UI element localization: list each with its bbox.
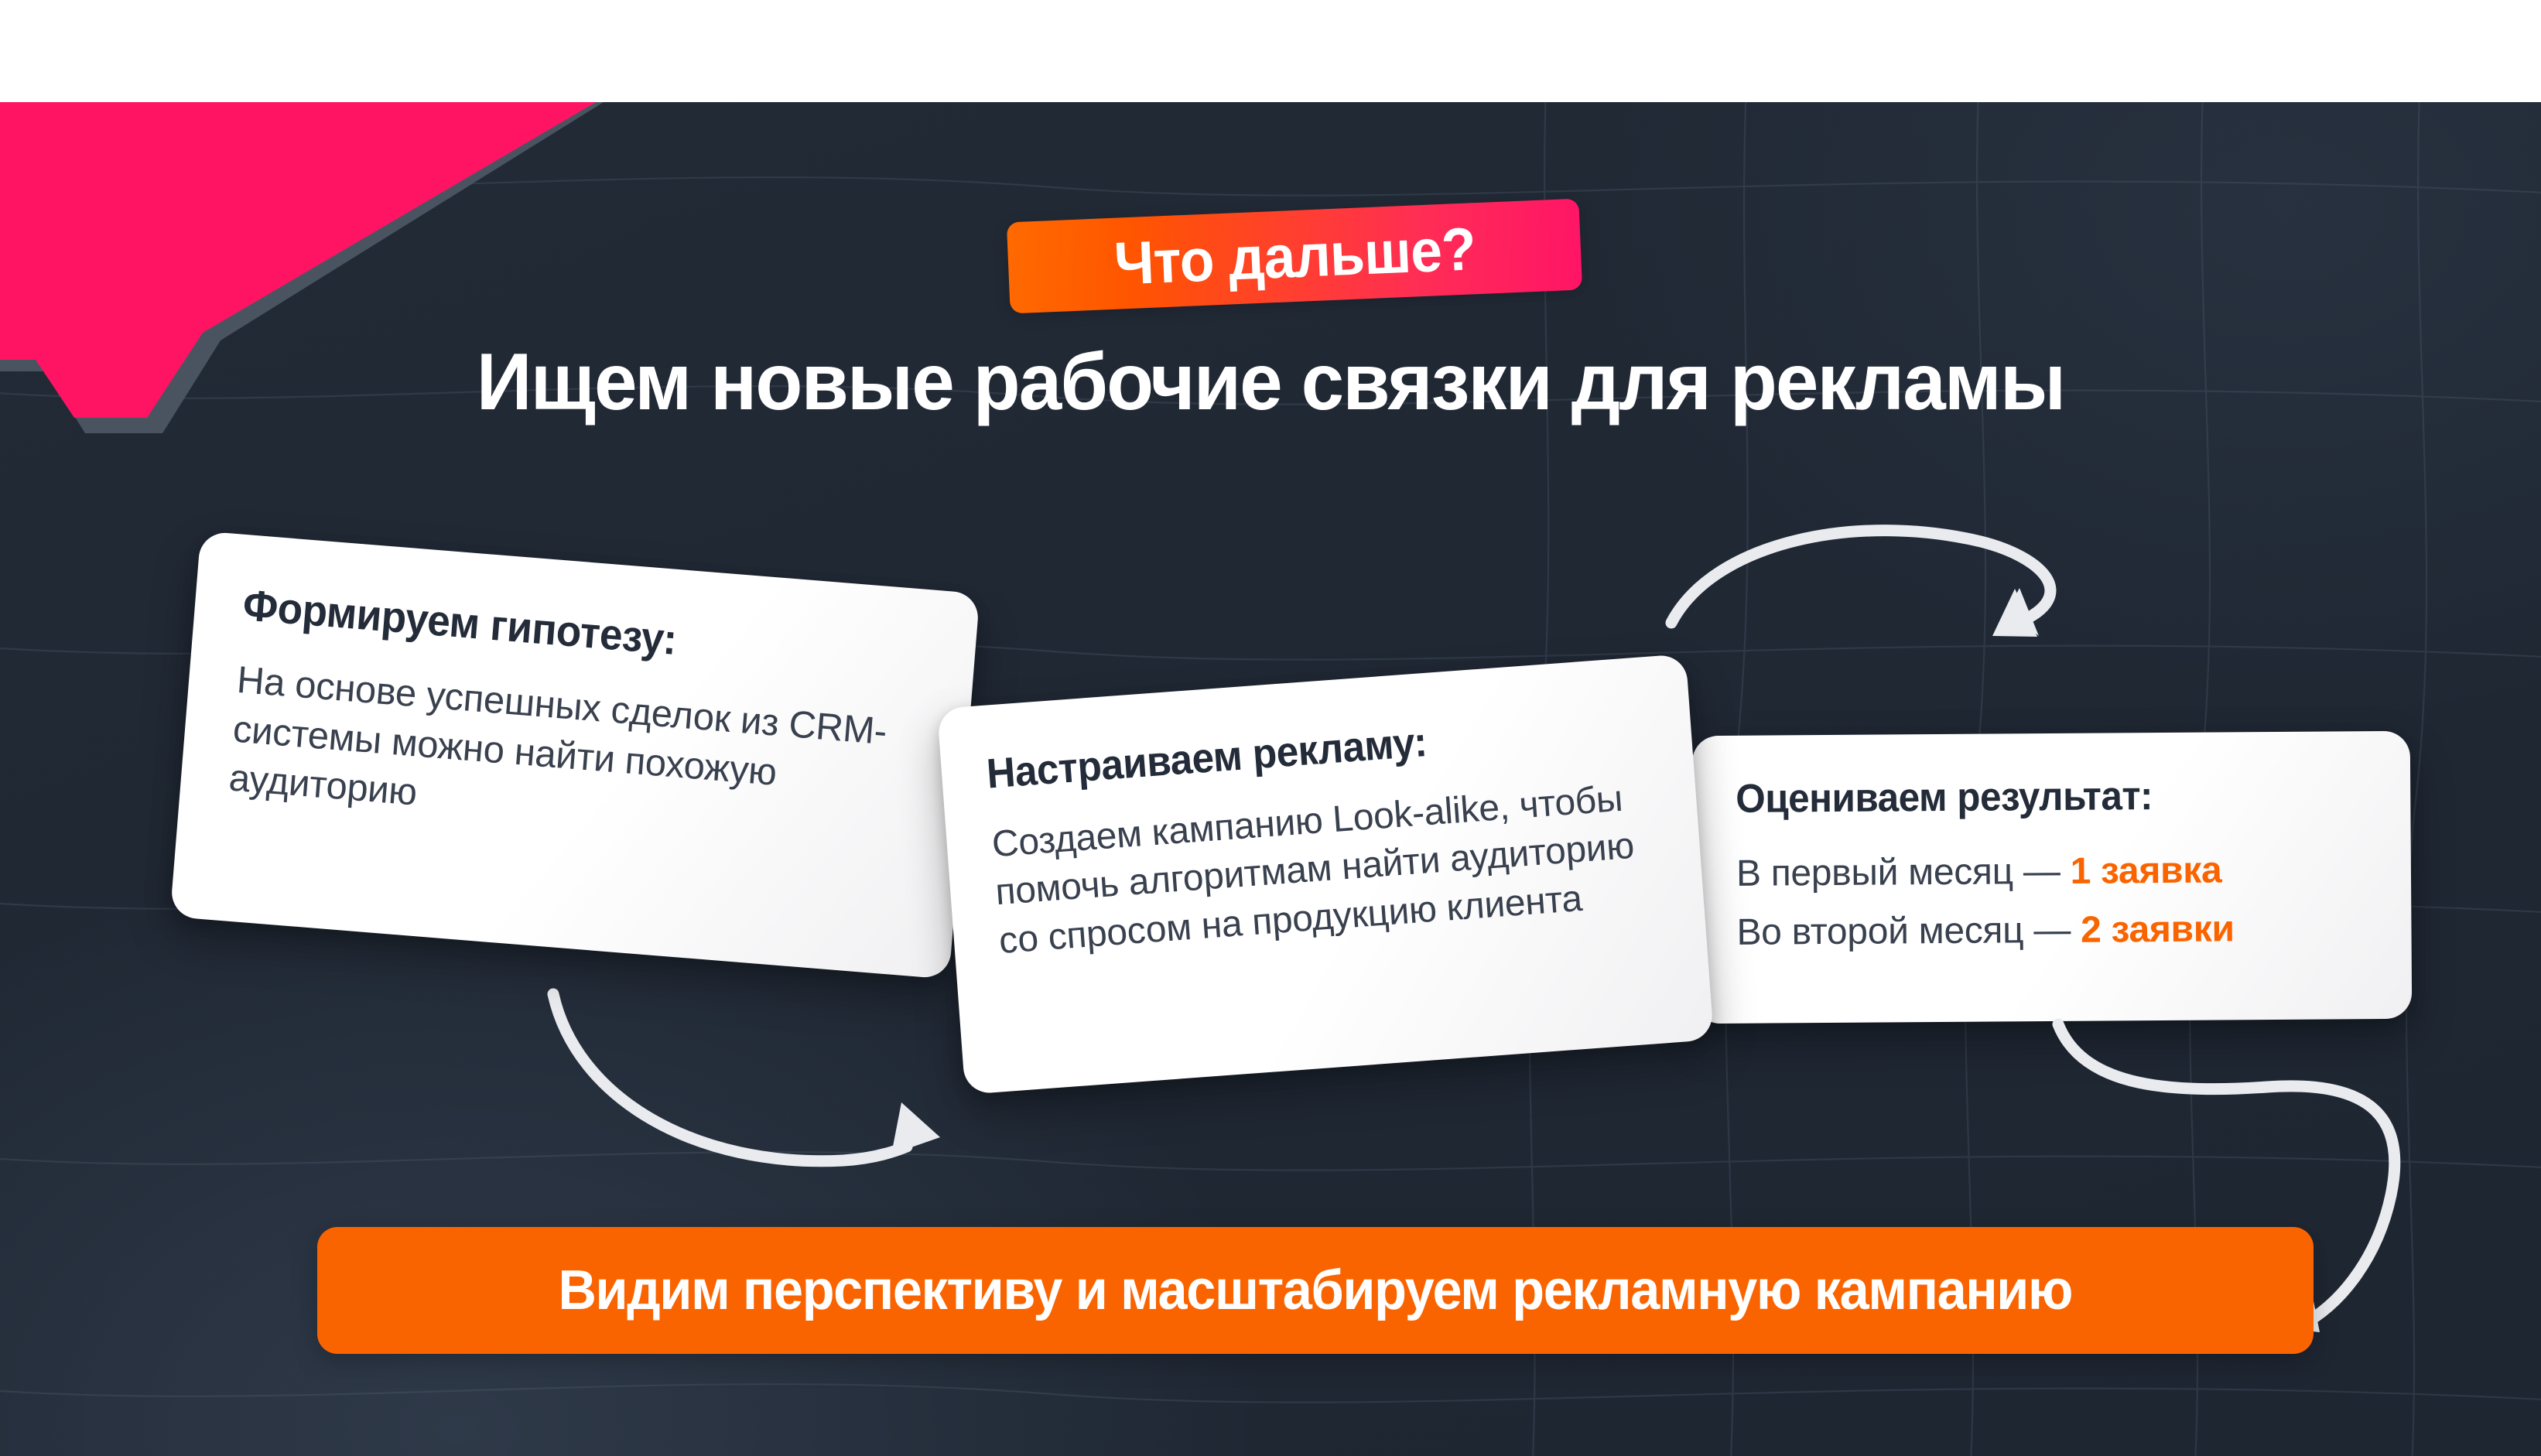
result-value: 1 заявка: [2070, 849, 2221, 891]
step-card-evaluate-result: Оцениваем результат: В первый месяц — 1 …: [1692, 731, 2413, 1024]
cta-banner: Видим перспективу и масштабируем рекламн…: [317, 1227, 2314, 1354]
result-row: В первый месяц — 1 заявка: [1736, 846, 2368, 898]
result-value: 2 заявки: [2081, 909, 2235, 951]
slide-root: Что дальше? Ищем новые рабочие связки дл…: [0, 0, 2541, 1456]
card-body: Создаем кампанию Look-alike, чтобы помоч…: [990, 773, 1660, 966]
step-card-hypothesis: Формируем гипотезу: На основе успешных с…: [170, 531, 980, 979]
result-row: Во второй месяц — 2 заявки: [1736, 905, 2368, 958]
cta-label: Видим перспективу и масштабируем рекламн…: [559, 1259, 2073, 1322]
badge-label: Что дальше?: [1113, 214, 1476, 299]
card-title: Оцениваем результат:: [1736, 771, 2336, 822]
result-label: В первый месяц —: [1736, 851, 2071, 894]
top-white-strip: [0, 0, 2541, 102]
step-card-setup-ads: Настраиваем рекламу: Создаем кампанию Lo…: [937, 654, 1714, 1095]
result-label: Во второй месяц —: [1736, 910, 2081, 953]
page-title: Ищем новые рабочие связки для рекламы: [51, 340, 2491, 424]
card-body: На основе успешных сделок из CRM-системы…: [227, 656, 922, 859]
